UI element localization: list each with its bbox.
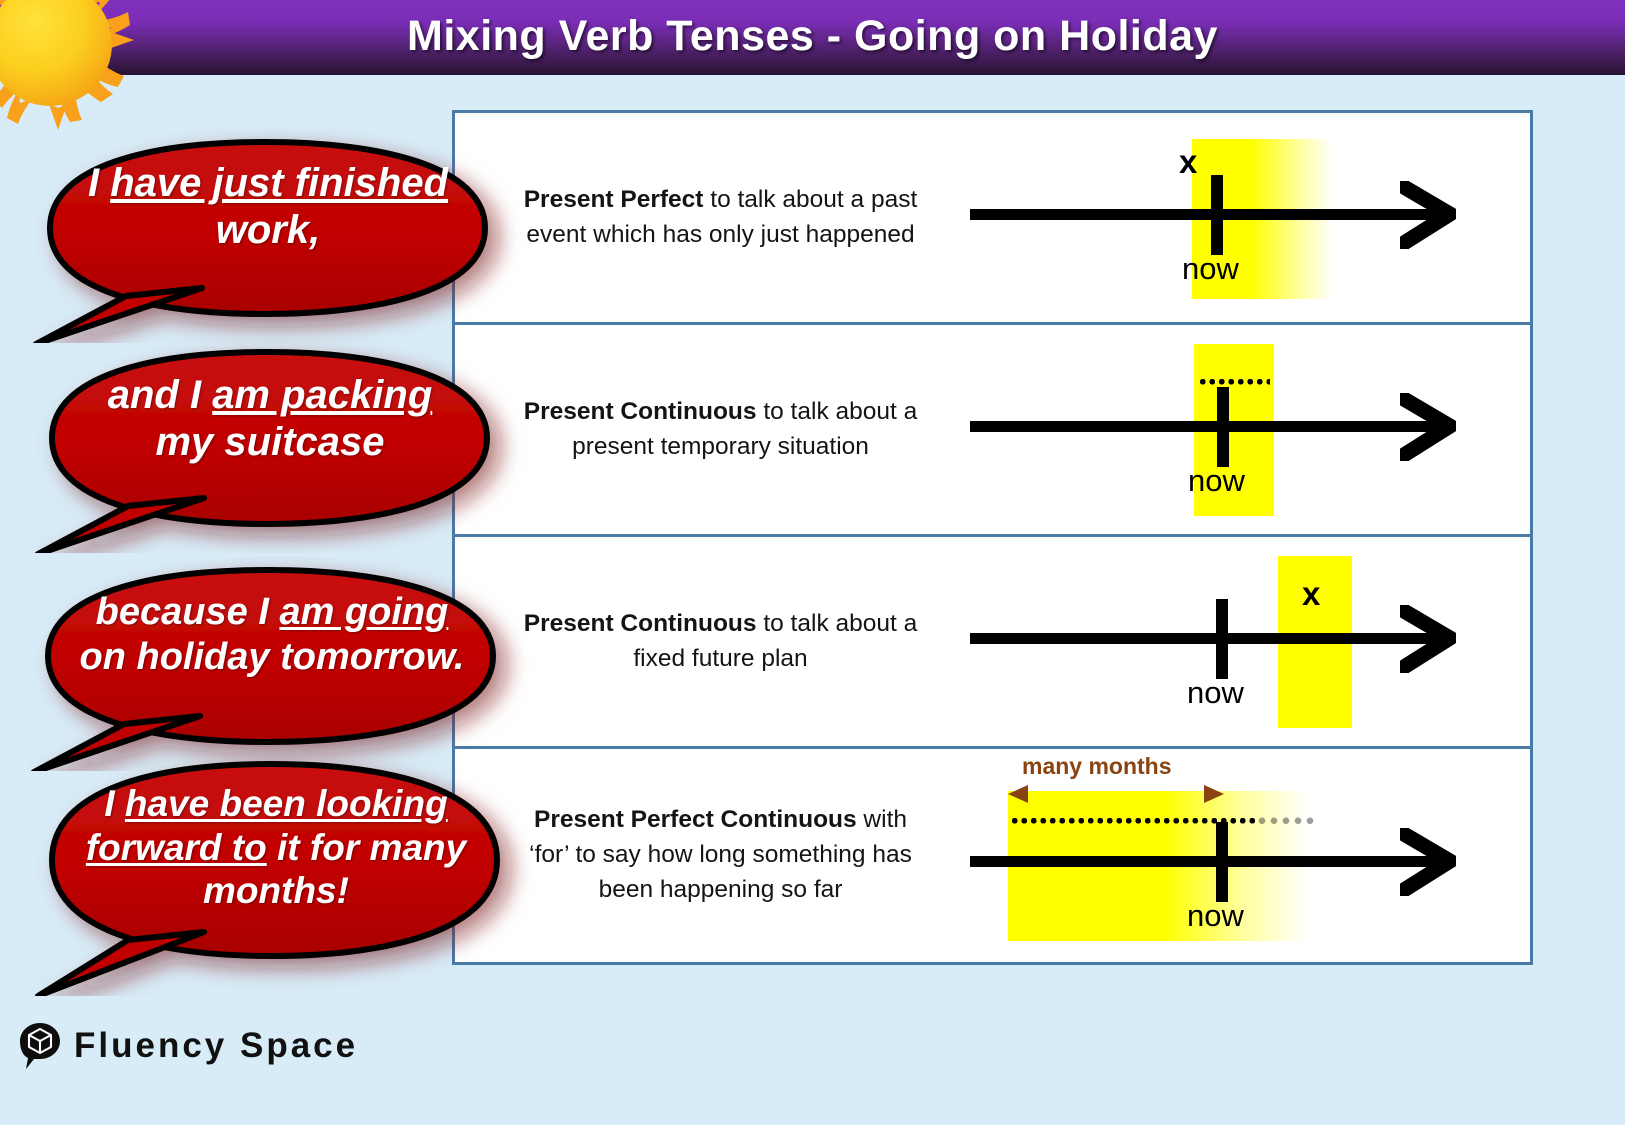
now-tick xyxy=(1211,175,1223,255)
bubble-line: on holiday tomorrow. xyxy=(52,635,492,680)
tense-name: Present Continuous xyxy=(524,398,757,425)
bubble-line: I have been looking xyxy=(56,782,496,826)
table-row: Present Perfect Continuous with ‘for’ to… xyxy=(455,749,1530,962)
arrow-head-icon xyxy=(1400,393,1456,461)
footer-brand: Fluency Space xyxy=(18,1022,358,1070)
bubble-line: and I am packing xyxy=(70,372,470,419)
bubble-text: I have been looking forward to it for ma… xyxy=(56,782,496,913)
tense-timeline-table: Present Perfect to talk about a past eve… xyxy=(452,110,1533,965)
bubble-line: because I am going xyxy=(52,590,492,635)
bubble-have-just-finished: I have just finished work, xyxy=(30,128,530,343)
tense-name: Present Perfect xyxy=(524,186,704,213)
brand-name: Fluency Space xyxy=(74,1026,358,1066)
bubble-am-going: because I am going on holiday tomorrow. xyxy=(28,556,538,771)
bubble-am-packing: and I am packing my suitcase xyxy=(32,338,532,553)
now-label: now xyxy=(1187,675,1244,711)
duration-label: many months xyxy=(1022,753,1172,780)
now-tick xyxy=(1217,387,1229,467)
dotted-duration-line-fade xyxy=(1256,816,1318,824)
timeline-axis xyxy=(970,209,1440,220)
bubble-text: and I am packing my suitcase xyxy=(70,372,470,466)
timeline-axis xyxy=(970,633,1440,644)
now-tick xyxy=(1216,599,1228,679)
timeline-diagram: x now xyxy=(960,537,1530,746)
arrow-head-icon xyxy=(1400,181,1456,249)
bubble-text: because I am going on holiday tomorrow. xyxy=(52,590,492,680)
table-row: Present Continuous to talk about a prese… xyxy=(455,325,1530,537)
bubble-text: I have just finished work, xyxy=(68,160,468,254)
cube-speech-bubble-icon xyxy=(18,1022,62,1070)
arrow-head-icon xyxy=(1400,828,1456,896)
now-label: now xyxy=(1188,463,1245,499)
timeline-axis xyxy=(970,856,1440,867)
tense-name: Present Perfect Continuous xyxy=(534,806,857,833)
bubble-have-been-looking: I have been looking forward to it for ma… xyxy=(32,748,542,996)
bubble-line: my suitcase xyxy=(70,419,470,466)
tense-name: Present Continuous xyxy=(524,610,757,637)
now-tick xyxy=(1216,822,1228,902)
dotted-duration-line xyxy=(1198,377,1270,385)
now-label: now xyxy=(1187,898,1244,934)
bubble-line: work, xyxy=(68,207,468,254)
duration-arrow-icon xyxy=(1006,781,1226,807)
table-row: Present Continuous to talk about a fixed… xyxy=(455,537,1530,749)
bubble-line: I have just finished xyxy=(68,160,468,207)
sun-icon xyxy=(0,0,148,142)
tense-description: Present Perfect to talk about a past eve… xyxy=(455,183,960,253)
timeline-diagram: x now xyxy=(960,113,1530,322)
bubble-line: months! xyxy=(56,869,496,913)
bubble-line: forward to it for many xyxy=(56,826,496,870)
timeline-diagram: now xyxy=(960,325,1530,534)
page-title: Mixing Verb Tenses - Going on Holiday xyxy=(0,0,1625,75)
arrow-head-icon xyxy=(1400,605,1456,673)
timeline-axis xyxy=(970,421,1440,432)
now-label: now xyxy=(1182,251,1239,287)
table-row: Present Perfect to talk about a past eve… xyxy=(455,113,1530,325)
event-marker-x: x xyxy=(1302,575,1320,613)
timeline-diagram: many months now xyxy=(960,749,1530,962)
event-marker-x: x xyxy=(1179,143,1197,181)
